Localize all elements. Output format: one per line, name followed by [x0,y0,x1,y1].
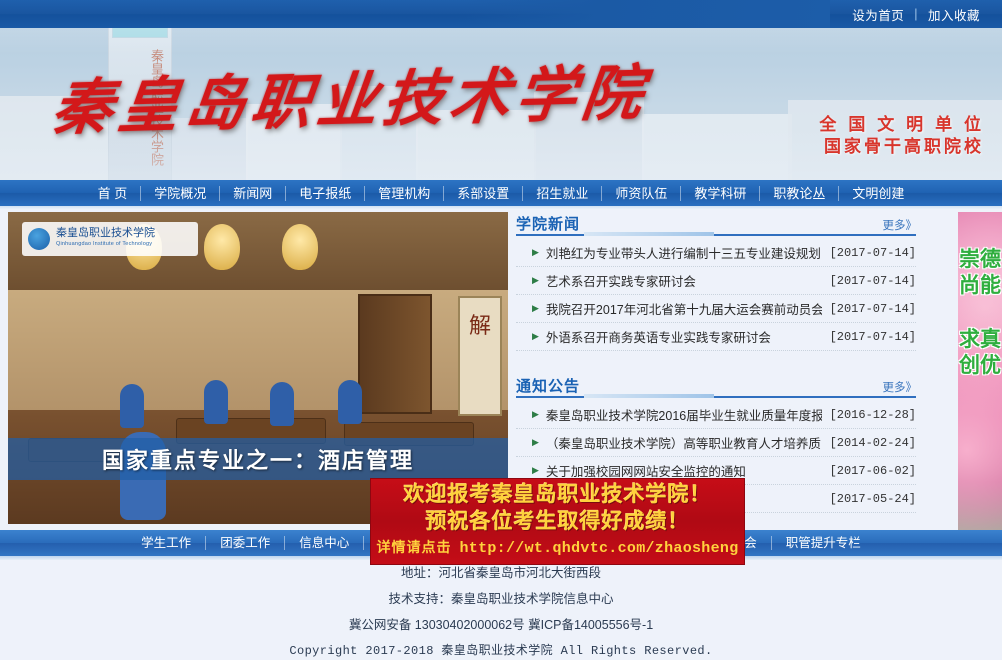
list-item-date: [2017-07-14] [830,274,916,288]
list-item-title[interactable]: （秦皇岛职业技术学院）高等职业教育人才培养质.. [546,433,822,452]
list-item-title[interactable]: 刘艳红为专业带头人进行编制十三五专业建设规划.. [546,243,822,262]
photo-wall-scroll: 解 [458,296,502,416]
main-nav-item-8[interactable]: 教学科研 [681,186,760,201]
main-nav-item-6[interactable]: 招生就业 [523,186,602,201]
top-utility-bar: 设为首页 | 加入收藏 [0,0,1002,28]
slogan-line-1: 全 国 文 明 单 位 [819,114,984,136]
site-logo[interactable]: 秦皇岛职业技术学院 [48,44,654,147]
footer-tech-support: 技术支持：秦皇岛职业技术学院信息中心 [0,586,1002,612]
page-root: 秦皇岛职业技术学院 秦皇岛职业技术学院 全 国 文 明 单 位 国家骨干高职院校… [0,0,1002,660]
list-item[interactable]: ▶艺术系召开实践专家研讨会[2017-07-14] [516,267,916,295]
emblem-icon [28,228,50,250]
main-navigation: 首 页学院概况新闻网电子报纸管理机构系部设置招生就业师资队伍教学科研职教论丛文明… [0,180,1002,206]
motto-text: 崇德尚能 求真创优 [958,246,1002,378]
header-slogan: 全 国 文 明 单 位 国家骨干高职院校 [819,114,984,158]
news-list: ▶刘艳红为专业带头人进行编制十三五专业建设规划..[2017-07-14]▶艺术… [516,239,916,351]
emblem-text: 秦皇岛职业技术学院 Qinhuangdao Institute of Techn… [56,228,155,250]
set-homepage-link[interactable]: 设为首页 [852,5,904,24]
photo-person [270,382,294,426]
popup-line-2: 预祝各位考生取得好成绩！ [371,508,744,535]
list-item-date: [2017-05-24] [830,492,916,506]
main-nav-item-1[interactable]: 学院概况 [141,186,220,201]
popup-line-3: 详情请点击 http://wt.qhdvtc.com/zhaosheng [371,537,744,557]
top-link-separator: | [914,7,918,21]
list-item-date: [2017-07-14] [830,246,916,260]
main-nav-underline [0,206,1002,209]
photo-person [338,380,362,424]
footer-icp: 冀公网安备 13030402000062号 冀ICP备14005556号-1 [0,612,1002,638]
notice-panel-header: 通知公告 更多》 [516,374,916,398]
add-favorite-link[interactable]: 加入收藏 [928,5,980,24]
main-nav-item-5[interactable]: 系部设置 [444,186,523,201]
top-utility-links: 设为首页 | 加入收藏 [852,0,980,28]
main-nav-item-2[interactable]: 新闻网 [220,186,286,201]
notice-more-link[interactable]: 更多》 [883,380,917,396]
admissions-popup[interactable]: 欢迎报考秦皇岛职业技术学院！ 预祝各位考生取得好成绩！ 详情请点击 http:/… [370,478,745,565]
popup-line-1: 欢迎报考秦皇岛职业技术学院！ [371,481,744,508]
list-item[interactable]: ▶我院召开2017年河北省第十九届大运会赛前动员会[2017-07-14] [516,295,916,323]
photo-lantern [204,224,240,270]
photo-scroll-char: 解 [460,308,500,340]
popup-cta-label: 详情请点击 [376,537,451,557]
list-item-date: [2016-12-28] [830,408,916,422]
list-item-date: [2017-06-02] [830,464,916,478]
bottom-nav-item-8[interactable]: 职管提升专栏 [772,536,875,550]
photo-lantern [282,224,318,270]
bullet-arrow-icon: ▶ [532,331,539,342]
list-item-title[interactable]: 秦皇岛职业技术学院2016届毕业生就业质量年度报.. [546,405,822,424]
chevron-right-icon: 》 [906,220,917,232]
bullet-arrow-icon: ▶ [532,437,539,448]
list-item[interactable]: ▶（秦皇岛职业技术学院）高等职业教育人才培养质..[2014-02-24] [516,429,916,457]
list-item[interactable]: ▶秦皇岛职业技术学院2016届毕业生就业质量年度报..[2016-12-28] [516,401,916,429]
bullet-arrow-icon: ▶ [532,303,539,314]
news-panel-header: 学院新闻 更多》 [516,212,916,236]
list-item-title[interactable]: 我院召开2017年河北省第十九届大运会赛前动员会 [546,299,822,318]
list-item-date: [2017-07-14] [830,330,916,344]
list-item-title[interactable]: 外语系召开商务英语专业实践专家研讨会 [546,327,822,346]
bullet-arrow-icon: ▶ [532,465,539,476]
motto-sidebar: 崇德尚能 求真创优 [958,212,1002,530]
motto-group-1: 崇德尚能 [959,246,1001,297]
emblem-name-en: Qinhuangdao Institute of Technology [56,239,155,250]
list-item-date: [2017-07-14] [830,302,916,316]
footer-copyright: Copyright 2017-2018 秦皇岛职业技术学院 All Rights… [0,638,1002,660]
slideshow-caption: 国家重点专业之一：酒店管理 [8,438,508,480]
list-item[interactable]: ▶刘艳红为专业带头人进行编制十三五专业建设规划..[2017-07-14] [516,239,916,267]
popup-url-link[interactable]: http://wt.qhdvtc.com/zhaosheng [459,540,738,557]
site-footer: 地址：河北省秦皇岛市河北大街西段 技术支持：秦皇岛职业技术学院信息中心 冀公网安… [0,560,1002,660]
motto-group-2: 求真创优 [958,326,1002,378]
main-nav-item-4[interactable]: 管理机构 [365,186,444,201]
slogan-line-2: 国家骨干高职院校 [819,136,984,158]
bottom-nav-item-0[interactable]: 学生工作 [127,536,206,550]
list-item[interactable]: ▶外语系召开商务英语专业实践专家研讨会[2017-07-14] [516,323,916,351]
main-nav-item-9[interactable]: 职教论丛 [760,186,839,201]
school-emblem-badge: 秦皇岛职业技术学院 Qinhuangdao Institute of Techn… [22,222,198,256]
news-panel: 学院新闻 更多》 ▶刘艳红为专业带头人进行编制十三五专业建设规划..[2017-… [516,212,916,351]
main-nav-item-0[interactable]: 首 页 [85,186,142,201]
emblem-name-cn: 秦皇岛职业技术学院 [56,227,155,239]
bullet-arrow-icon: ▶ [532,409,539,420]
list-item-date: [2014-02-24] [830,436,916,450]
news-more-link[interactable]: 更多》 [883,218,917,234]
main-nav-item-3[interactable]: 电子报纸 [286,186,365,201]
photo-person [204,380,228,424]
notice-panel-title: 通知公告 [516,378,580,396]
bottom-nav-item-1[interactable]: 团委工作 [206,536,285,550]
chevron-right-icon: 》 [906,382,917,394]
bullet-arrow-icon: ▶ [532,247,539,258]
photo-door [358,294,432,414]
photo-wall [8,290,508,410]
bottom-nav-item-2[interactable]: 信息中心 [285,536,364,550]
list-item-title[interactable]: 艺术系召开实践专家研讨会 [546,271,822,290]
bullet-arrow-icon: ▶ [532,275,539,286]
main-nav-item-7[interactable]: 师资队伍 [602,186,681,201]
photo-person [120,384,144,428]
main-nav-item-10[interactable]: 文明创建 [839,186,917,201]
news-panel-title: 学院新闻 [516,216,580,234]
